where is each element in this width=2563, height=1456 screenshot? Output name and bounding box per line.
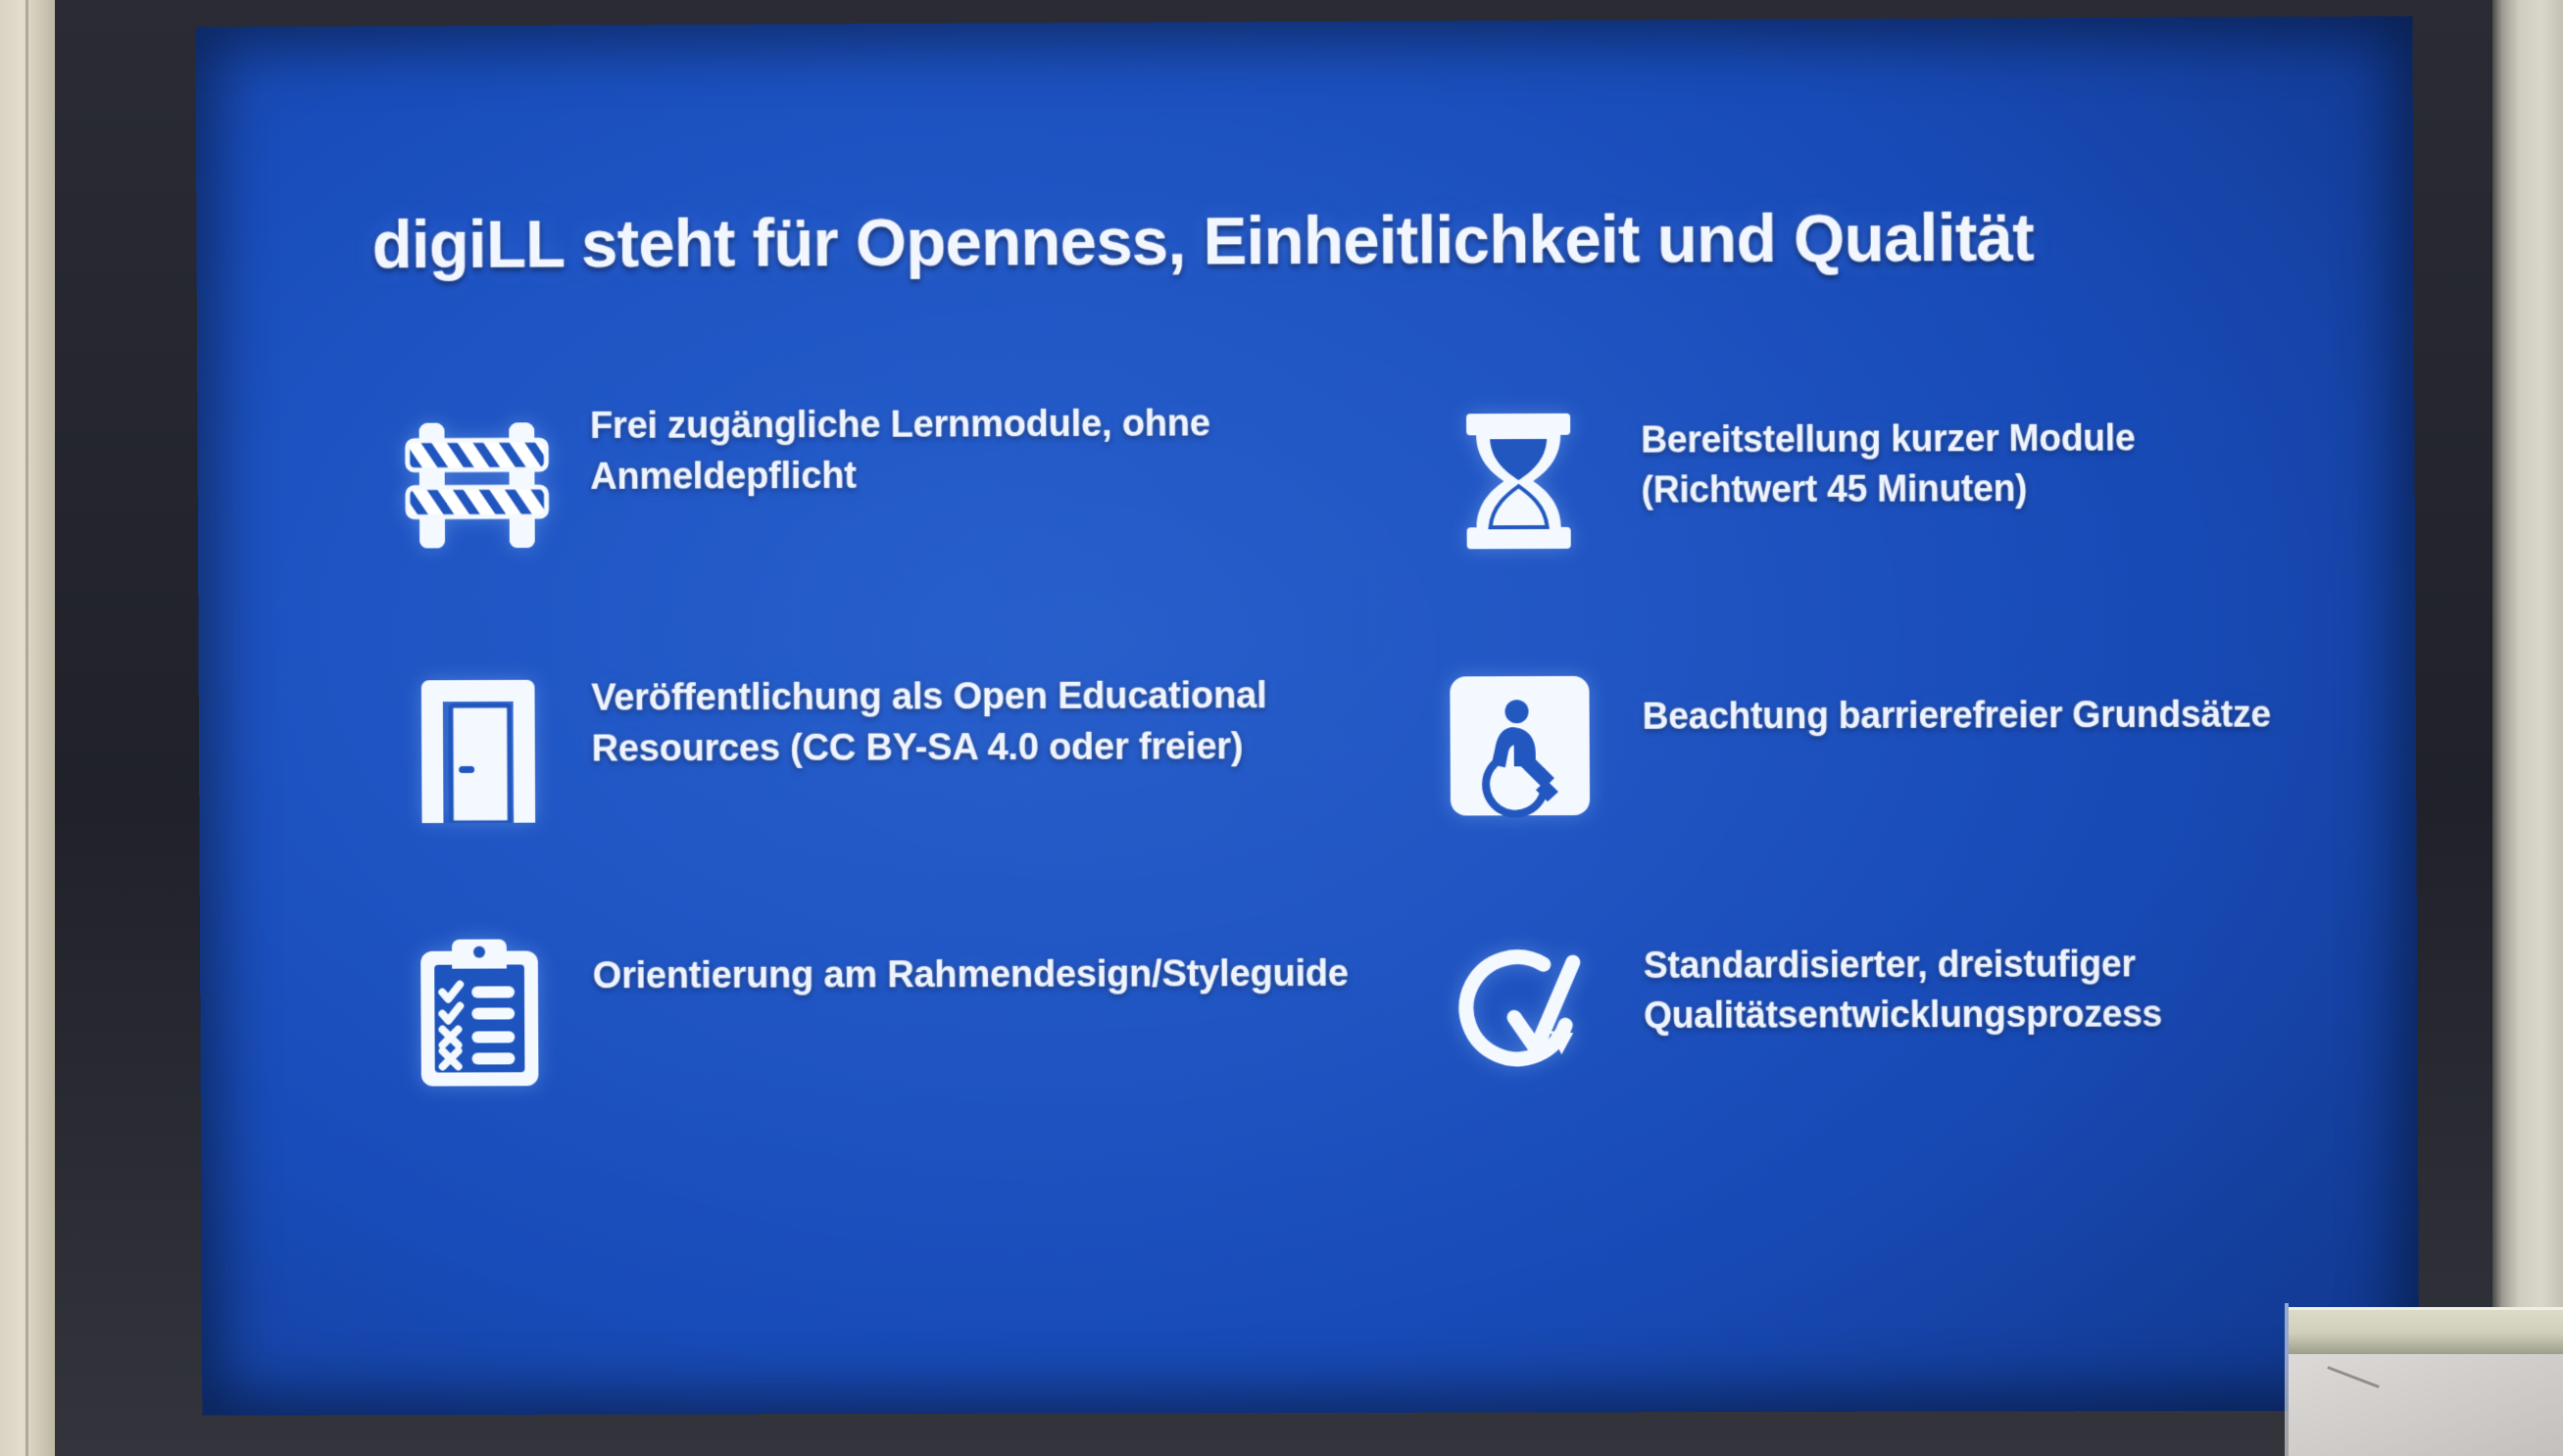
feature-text: Beachtung barrierefreier Grundsätze <box>1642 645 2308 742</box>
feature-item-short-modules: Bereitstellung kurzer Module (Richtwert … <box>1396 380 2325 649</box>
clipboard-checklist-icon <box>366 915 593 1111</box>
feature-item-accessibility: Beachtung barrierefreier Grundsätze <box>1397 645 2326 913</box>
projection-screen-frame: digiLL steht für Openness, Einheitlichke… <box>55 0 2492 1456</box>
feature-text: Veröffentlichung als Open Educational Re… <box>591 649 1377 775</box>
feature-text: Frei zugängliche Lernmodule, ohne Anmeld… <box>590 384 1376 503</box>
wall-seam <box>25 0 28 1456</box>
feature-grid: Frei zugängliche Lernmodule, ohne Anmeld… <box>364 380 2328 1181</box>
presentation-slide: digiLL steht für Openness, Einheitlichke… <box>195 16 2419 1415</box>
wall-right-strip <box>2492 0 2563 1456</box>
hourglass-icon <box>1396 383 1642 580</box>
feature-item-oer-license: Veröffentlichung als Open Educational Re… <box>365 649 1399 916</box>
feature-item-quality-process: Standardisierter, dreistufiger Qualitäts… <box>1398 910 2327 1178</box>
cycle-check-icon <box>1398 912 1644 1109</box>
page-title: digiLL steht für Openness, Einheitlichke… <box>372 202 2236 281</box>
flipchart-rail <box>2289 1307 2563 1361</box>
feature-item-open-access: Frei zugängliche Lernmodule, ohne Anmeld… <box>364 384 1398 653</box>
open-door-icon <box>365 652 592 848</box>
feature-text: Standardisierter, dreistufiger Qualitäts… <box>1644 910 2310 1041</box>
wheelchair-accessibility-icon <box>1397 648 1643 845</box>
feature-text: Bereitstellung kurzer Module (Richtwert … <box>1641 380 2307 515</box>
feature-item-styleguide: Orientierung am Rahmendesign/Styleguide <box>366 913 1400 1181</box>
road-barrier-icon <box>364 387 591 584</box>
flipchart-foreground-object <box>2279 1299 2563 1456</box>
wall-left-strip <box>0 0 55 1456</box>
feature-text: Orientierung am Rahmendesign/Styleguide <box>592 913 1378 1001</box>
room-background: digiLL steht für Openness, Einheitlichke… <box>0 0 2563 1456</box>
